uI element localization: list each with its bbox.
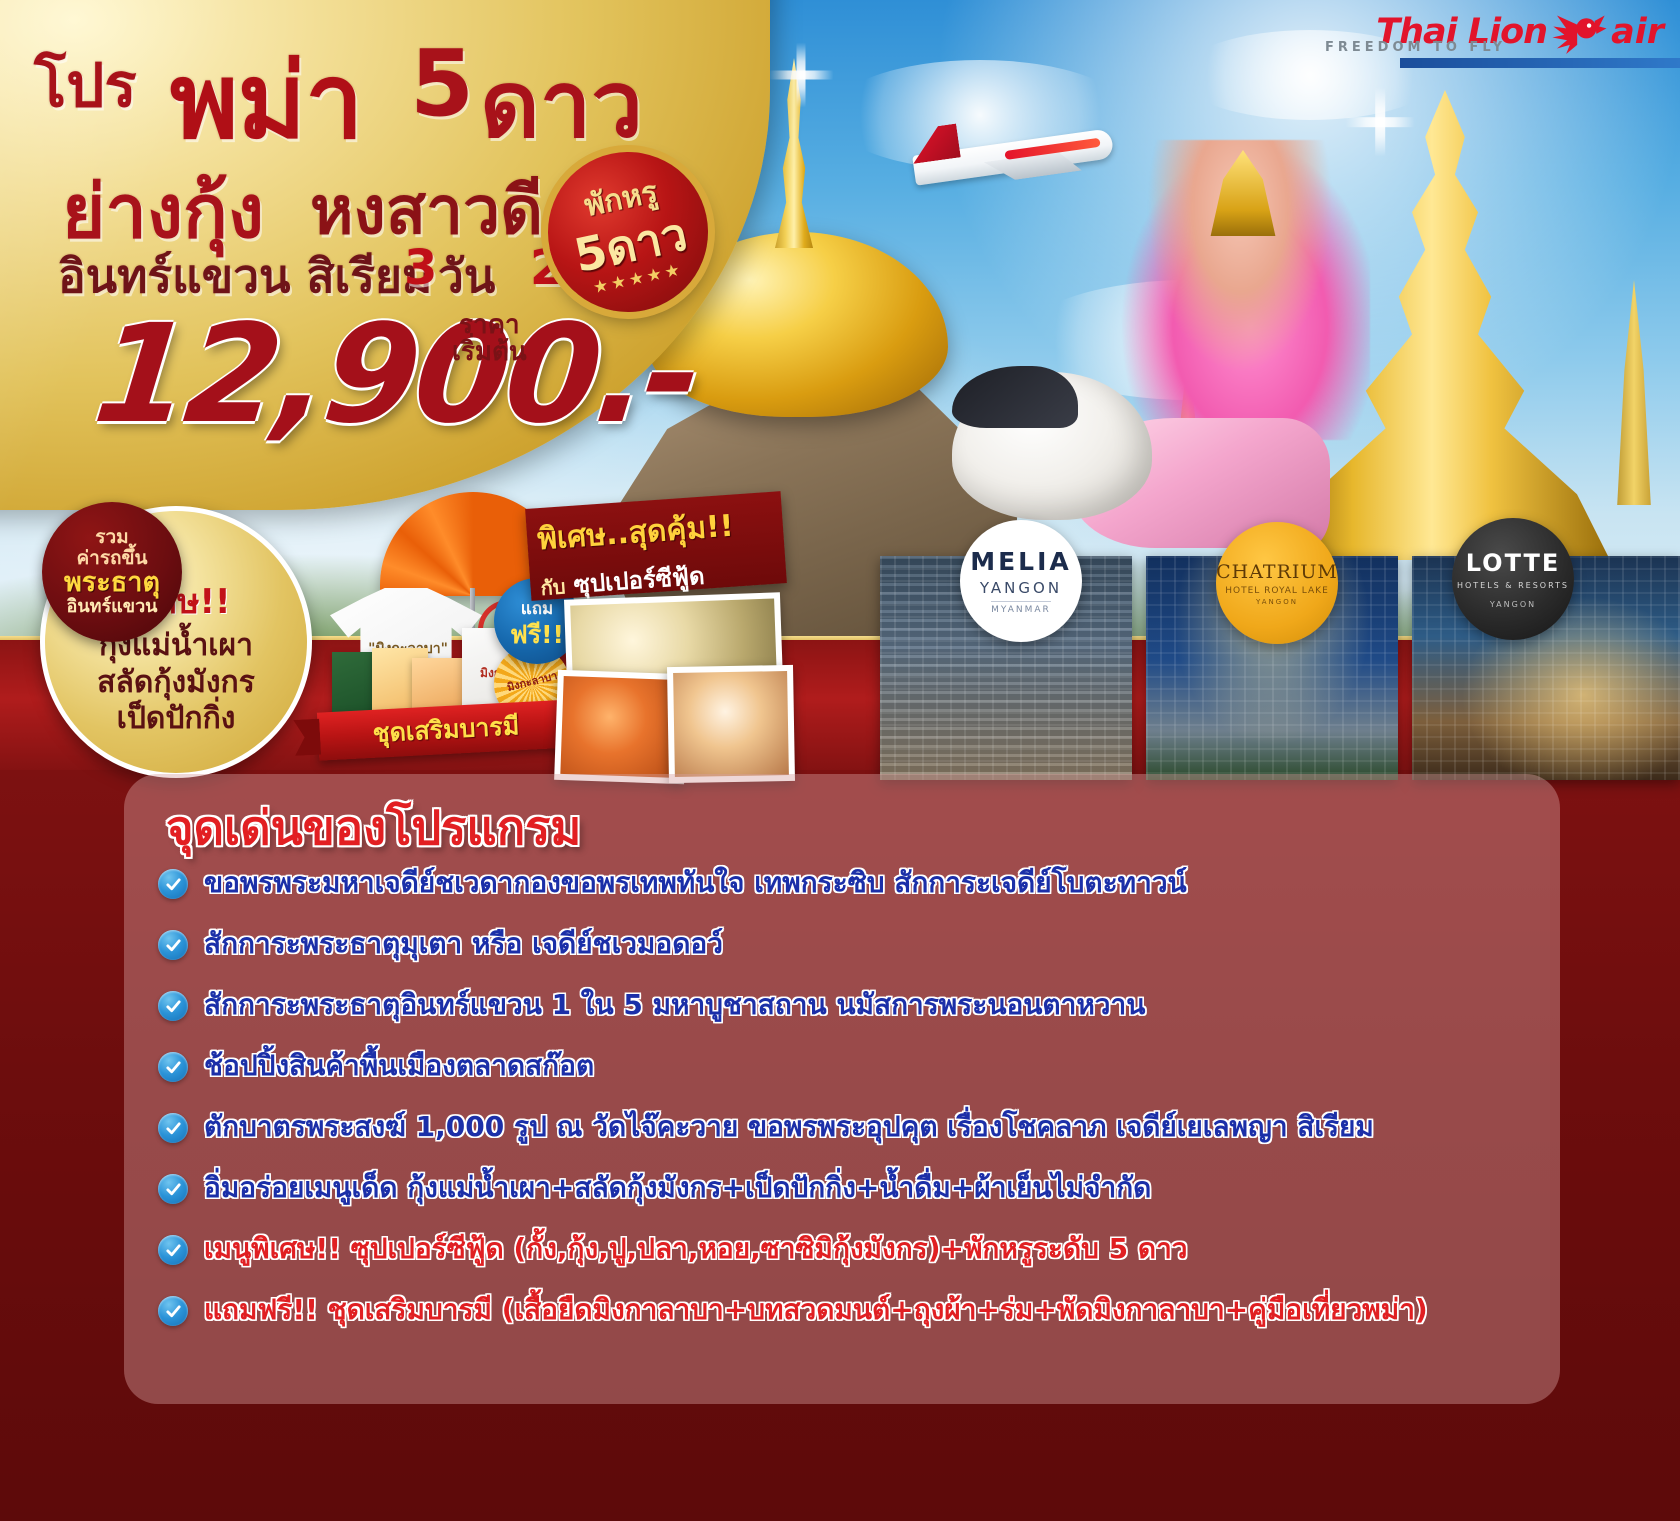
included-transport-badge: รวม ค่ารถขึ้น พระธาตุ อินทร์แขวน	[42, 502, 182, 642]
free-badge-line-2: ฟรี!!	[510, 622, 564, 647]
highlight-item: สักการะพระธาตุอินทร์แขวน 1 ใน 5 มหาบูชาส…	[158, 988, 1548, 1026]
hotel-logo-chatrium: CHATRIUM HOTEL ROYAL LAKE YANGON	[1216, 522, 1338, 644]
hotel-logo-sub: HOTELS & RESORTS	[1457, 581, 1569, 590]
airline-name-right: air	[1611, 12, 1664, 52]
food-photo-lobster-salad	[667, 665, 795, 783]
check-circle-icon	[158, 991, 188, 1021]
highlight-item-label: ขอพรพระมหาเจดีย์ชเวดากองขอพรเทพทันใจ เทพ…	[204, 866, 1187, 901]
check-circle-icon	[158, 1296, 188, 1326]
price-from-line-1: ราคา	[452, 312, 527, 339]
hotel-logo-name: MELIA	[970, 547, 1072, 576]
seafood-banner: พิเศษ..สุดคุ้ม!! กับ ซุปเปอร์ซีฟู้ด	[525, 491, 787, 601]
seafood-banner-prefix: กับ	[540, 574, 566, 600]
price-from-label: ราคา เริ่มต้น	[452, 312, 527, 367]
hotel-logo-sub: HOTEL ROYAL LAKE	[1225, 586, 1329, 596]
hotel-logo-melia: MELIA YANGON MYANMAR	[960, 520, 1082, 642]
program-highlights-panel: จุดเด่นของโปรแกรม ขอพรพระมหาเจดีย์ชเวดาก…	[124, 774, 1560, 1404]
highlight-item: เมนูพิเศษ!! ซุปเปอร์ซีฟู้ด (กั้ง,กุ้ง,ปู…	[158, 1232, 1548, 1270]
hotel-logo-country: MYANMAR	[991, 601, 1051, 615]
included-line-2: ค่ารถขึ้น	[76, 548, 147, 569]
seafood-banner-term: ซุปเปอร์ซีฟู้ด	[573, 562, 706, 599]
hotel-logo-lotte: LOTTE HOTELS & RESORTS YANGON	[1452, 518, 1574, 640]
headline-days-number: 3	[404, 240, 437, 296]
hotel-logo-city: YANGON	[980, 579, 1062, 597]
highlight-item-label: ตักบาตรพระสงฆ์ 1,000 รูป ณ วัดไจ๊คะวาย ข…	[204, 1110, 1374, 1145]
highlight-item-label: เมนูพิเศษ!! ซุปเปอร์ซีฟู้ด (กั้ง,กุ้ง,ปู…	[204, 1232, 1188, 1267]
check-circle-icon	[158, 930, 188, 960]
hotel-logo-city: YANGON	[1490, 600, 1536, 609]
check-circle-icon	[158, 1052, 188, 1082]
included-line-1: รวม	[95, 527, 128, 548]
highlights-title: จุดเด่นของโปรแกรม	[166, 790, 581, 865]
headline-star-count: 5	[410, 30, 474, 137]
airline-tagline: FREEDOM TO FLY	[1325, 40, 1506, 55]
highlight-item-label: ช้อปปิ้งสินค้าพื้นเมืองตลาดสก๊อต	[204, 1049, 594, 1084]
price-amount: 12,900.-	[88, 296, 706, 454]
hotel-logo-name: LOTTE	[1466, 549, 1561, 577]
highlight-item: ช้อปปิ้งสินค้าพื้นเมืองตลาดสก๊อต	[158, 1049, 1548, 1087]
highlights-list: ขอพรพระมหาเจดีย์ชเวดากองขอพรเทพทันใจ เทพ…	[158, 866, 1548, 1354]
check-circle-icon	[158, 1235, 188, 1265]
lion-head-icon	[1551, 10, 1607, 54]
highlight-item: แถมฟรี!! ชุดเสริมบารมี (เสื้อยืดมิงกาลาบ…	[158, 1293, 1548, 1331]
price-from-line-2: เริ่มต้น	[452, 339, 527, 366]
highlight-item-label: สักการะพระธาตุอินทร์แขวน 1 ใน 5 มหาบูชาส…	[204, 988, 1145, 1023]
included-line-3: พระธาตุ	[64, 569, 160, 597]
hotel-logo-name: CHATRIUM	[1216, 561, 1338, 583]
highlight-item: สักการะพระธาตุมุเตา หรือ เจดีย์ชเวมอดอว์	[158, 927, 1548, 965]
gift-set-ribbon-label: ชุดเสริมบารมี	[372, 706, 521, 754]
special-menu-item-2: สลัดกุ้งมังกร	[97, 665, 255, 702]
highlight-item-label: สักการะพระธาตุมุเตา หรือ เจดีย์ชเวมอดอว์	[204, 927, 723, 962]
check-circle-icon	[158, 1174, 188, 1204]
check-circle-icon	[158, 869, 188, 899]
included-line-4: อินทร์แขวน	[67, 597, 158, 617]
highlight-item: อิ่มอร่อยเมนูเด็ด กุ้งแม่น้ำเผา+สลัดกุ้ง…	[158, 1171, 1548, 1209]
special-menu-item-3: เป็ดปักกิ่ง	[117, 701, 236, 738]
check-circle-icon	[158, 1113, 188, 1143]
headline-promo-word: โปร	[34, 38, 137, 133]
highlight-item: ตักบาตรพระสงฆ์ 1,000 รูป ณ วัดไจ๊คะวาย ข…	[158, 1110, 1548, 1148]
highlight-item: ขอพรพระมหาเจดีย์ชเวดากองขอพรเทพทันใจ เทพ…	[158, 866, 1548, 904]
highlight-item-label: อิ่มอร่อยเมนูเด็ด กุ้งแม่น้ำเผา+สลัดกุ้ง…	[204, 1171, 1151, 1206]
hotel-logo-city: YANGON	[1256, 598, 1298, 606]
highlight-item-label: แถมฟรี!! ชุดเสริมบารมี (เสื้อยืดมิงกาลาบ…	[204, 1293, 1428, 1328]
promotion-poster: Thai Lion air FREEDOM TO FLY โปร พม่า 5 …	[0, 0, 1680, 1521]
